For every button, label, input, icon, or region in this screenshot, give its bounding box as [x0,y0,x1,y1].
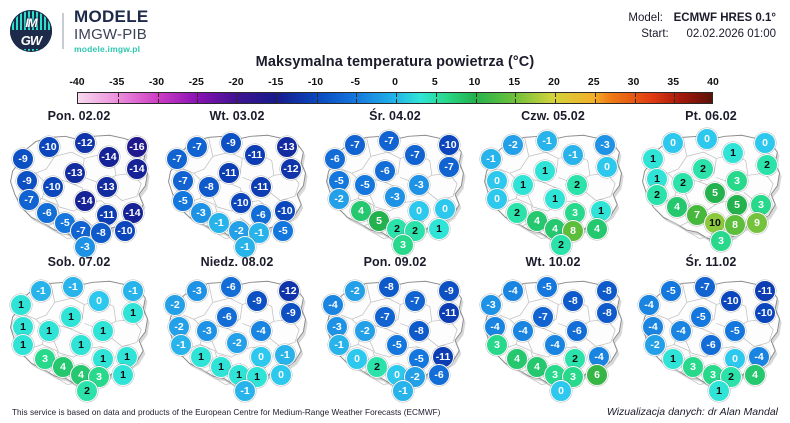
imgw-logo-icon: IM GW [10,10,52,52]
colorbar-tick: 20 [548,76,560,88]
temperature-marker[interactable]: -3 [408,174,430,196]
forecast-panel[interactable]: Pon. 09.02-2-8-9-7-4-7-11-3-2-8-1-5-5-11… [316,254,474,400]
poland-map: -2-8-9-7-4-7-11-3-2-8-1-5-5-11020-2-6-1 [316,272,474,398]
forecast-panel[interactable]: Śr. 11.02-5-7-11-10-4-5-10-4-4-5-2-60-41… [632,254,790,400]
panel-date-label: Sob. 07.02 [0,254,158,272]
temperature-marker[interactable]: 6 [586,364,608,386]
panel-date-label: Czw. 05.02 [474,108,632,126]
colorbar: -40-35-30-25-20-15-10-50510152025303540 [77,76,713,104]
temperature-marker[interactable]: 1 [12,334,34,356]
temperature-marker[interactable]: -5 [272,220,294,242]
colorbar-tickmark [476,93,477,97]
temperature-marker[interactable]: -1 [392,380,414,402]
temperature-marker[interactable]: 1 [512,174,534,196]
temperature-marker[interactable]: -10 [438,134,460,156]
model-metadata: Model: ECMWF HRES 0.1° Start: 02.02.2026… [628,10,776,42]
temperature-marker[interactable]: -9 [246,290,268,312]
temperature-marker[interactable]: 1 [662,348,684,370]
start-row: Start: 02.02.2026 01:00 [628,26,776,42]
temperature-marker[interactable]: 0 [486,188,508,210]
temperature-marker[interactable]: -7 [172,170,194,192]
temperature-marker[interactable]: -8 [562,290,584,312]
temperature-marker[interactable]: -12 [74,132,96,154]
forecast-panel[interactable]: Śr. 04.02-7-7-10-7-6-6-7-5-5-3-2-3004522… [316,108,474,254]
temperature-marker[interactable]: 0 [754,132,776,154]
colorbar-tick: 0 [392,76,398,88]
temperature-marker[interactable]: 4 [666,196,688,218]
temperature-marker[interactable]: -7 [438,156,460,178]
temperature-marker[interactable]: 0 [88,290,110,312]
panel-date-label: Śr. 11.02 [632,254,790,272]
chart-title: Maksymalna temperatura powietrza (°C) [0,54,790,70]
imgw-logo: IM GW MODELE IMGW-PIB modele.imgw.pl [10,8,149,54]
temperature-marker[interactable]: -2 [164,294,186,316]
temperature-marker[interactable]: -13 [96,176,118,198]
temperature-marker[interactable]: -9 [438,280,460,302]
temperature-marker[interactable]: 2 [366,356,388,378]
poland-map: -2-1-3-1-1100120131244842 [474,126,632,252]
panel-date-label: Niedz. 08.02 [158,254,316,272]
temperature-marker[interactable]: 1 [428,218,450,240]
temperature-marker[interactable]: 3 [726,170,748,192]
temperature-marker[interactable]: -2 [344,280,366,302]
colorbar-tick: 25 [588,76,600,88]
colorbar-tickmark [277,93,278,97]
temperature-marker[interactable]: -5 [354,174,376,196]
poland-map: -7-7-10-7-6-6-7-5-5-3-2-300452213 [316,126,474,252]
temperature-marker[interactable]: 3 [710,230,732,252]
temperature-marker[interactable]: 4 [744,364,766,386]
temperature-marker[interactable]: -6 [428,364,450,386]
temperature-marker[interactable]: -10 [42,176,64,198]
colorbar-tickmark [674,93,675,97]
temperature-marker[interactable]: -1 [170,334,192,356]
temperature-marker[interactable]: -7 [694,276,716,298]
temperature-marker[interactable]: 1 [708,380,730,402]
colorbar-tickmark [197,99,198,103]
colorbar-tickmark [635,93,636,97]
temperature-marker[interactable]: 2 [566,174,588,196]
temperature-marker[interactable]: 0 [662,132,684,154]
temperature-marker[interactable]: -1 [30,280,52,302]
temperature-marker[interactable]: 1 [70,334,92,356]
colorbar-tickmark [237,93,238,97]
temperature-marker[interactable]: -1 [208,212,230,234]
temperature-marker[interactable]: 2 [506,202,528,224]
colorbar-gradient [77,92,713,104]
temperature-marker[interactable]: -5 [386,334,408,356]
temperature-marker[interactable]: -2 [226,332,248,354]
forecast-panel[interactable]: Pt. 06.02000112212325534710893 [632,108,790,254]
temperature-marker[interactable]: -4 [670,320,692,342]
colorbar-tickmark [396,99,397,103]
colorbar-tickmark [515,93,516,97]
temperature-marker[interactable]: -12 [280,158,302,180]
model-value: ECMWF HRES 0.1° [674,12,776,24]
temperature-marker[interactable]: 1 [190,346,212,368]
temperature-marker[interactable]: -3 [480,294,502,316]
forecast-panel[interactable]: Sob. 07.02-1-1-101111111111344312 [0,254,158,400]
temperature-marker[interactable]: -9 [220,132,242,154]
temperature-marker[interactable]: -9 [12,148,34,170]
panel-date-label: Wt. 10.02 [474,254,632,272]
temperature-marker[interactable]: 0 [434,198,456,220]
temperature-marker[interactable]: -7 [404,144,426,166]
colorbar-tick: -35 [109,76,124,88]
colorbar-tickmark [396,93,397,97]
temperature-marker[interactable]: 1 [60,306,82,328]
temperature-marker[interactable]: -13 [276,136,298,158]
logo-title-modele: MODELE [74,8,149,25]
temperature-marker[interactable]: -10 [114,220,136,242]
colorbar-tickmark [118,93,119,97]
colorbar-tick: 35 [667,76,679,88]
temperature-marker[interactable]: -8 [408,320,430,342]
poland-map: -4-5-8-8-3-7-8-4-4-63-42-4443360 [474,272,632,398]
temperature-marker[interactable]: -2 [354,320,376,342]
temperature-marker[interactable]: -11 [250,176,272,198]
temperature-marker[interactable]: 5 [726,194,748,216]
logo-divider [62,13,64,49]
colorbar-tickmark [197,93,198,97]
forecast-panel[interactable]: Niedz. 08.02-3-6-12-9-2-6-9-2-3-4-1-20-1… [158,254,316,400]
temperature-marker[interactable]: -6 [216,306,238,328]
colorbar-tick-labels: -40-35-30-25-20-15-10-50510152025303540 [77,76,713,92]
colorbar-tick: -5 [351,76,360,88]
temperature-marker[interactable]: -4 [502,280,524,302]
temperature-marker[interactable]: -5 [660,280,682,302]
temperature-marker[interactable]: 3 [486,334,508,356]
temperature-marker[interactable]: -3 [186,280,208,302]
colorbar-tickmark [317,93,318,97]
temperature-marker[interactable]: -3 [196,320,218,342]
temperature-marker[interactable]: -11 [218,162,240,184]
temperature-marker[interactable]: -6 [700,334,722,356]
temperature-marker[interactable]: 0 [550,380,572,402]
temperature-marker[interactable]: -1 [480,148,502,170]
temperature-marker[interactable]: -10 [754,302,776,324]
temperature-marker[interactable]: -7 [344,134,366,156]
temperature-marker[interactable]: -4 [638,294,660,316]
logo-subtitle-imgw-pib: IMGW-PIB [74,27,149,42]
temperature-marker[interactable]: -4 [544,334,566,356]
temperature-marker[interactable]: -14 [126,158,148,180]
temperature-marker[interactable]: -7 [378,130,400,152]
page-header: IM GW MODELE IMGW-PIB modele.imgw.pl Mod… [0,0,790,52]
temperature-marker[interactable]: 4 [586,218,608,240]
temperature-marker[interactable]: -16 [126,136,148,158]
poland-map: -1-1-101111111111344312 [0,272,158,398]
colorbar-tick: 5 [432,76,438,88]
colorbar-tickmark [555,99,556,103]
colorbar-tickmark [555,93,556,97]
poland-map: -5-7-11-10-4-5-10-4-4-5-2-60-4133241 [632,272,790,398]
temperature-marker[interactable]: 2 [550,234,572,256]
temperature-marker[interactable]: 1 [544,188,566,210]
temperature-marker[interactable]: 1 [92,320,114,342]
colorbar-tick: -25 [189,76,204,88]
panel-date-label: Pt. 06.02 [632,108,790,126]
colorbar-tick: -10 [308,76,323,88]
forecast-panel[interactable]: Czw. 05.02-2-1-3-1-1100120131244842 [474,108,632,254]
colorbar-tickmark [158,93,159,97]
temperature-marker[interactable]: 1 [722,142,744,164]
colorbar-tickmark [356,99,357,103]
panel-date-label: Pon. 02.02 [0,108,158,126]
start-value: 02.02.2026 01:00 [686,28,776,40]
temperature-marker[interactable]: -1 [62,276,84,298]
temperature-marker[interactable]: -3 [594,134,616,156]
temperature-marker[interactable]: -7 [532,306,554,328]
temperature-marker[interactable]: -8 [596,302,618,324]
temperature-marker[interactable]: -6 [374,160,396,182]
temperature-marker[interactable]: 2 [756,154,778,176]
colorbar-tick: -15 [268,76,283,88]
temperature-marker[interactable]: 0 [596,156,618,178]
temperature-marker[interactable]: 1 [10,294,32,316]
temperature-marker[interactable]: -7 [186,136,208,158]
logo-gw-text: GW [10,32,52,49]
temperature-marker[interactable]: 2 [672,172,694,194]
colorbar-tickmark [356,93,357,97]
temperature-marker[interactable]: 4 [506,348,528,370]
temperature-marker[interactable]: -4 [250,320,272,342]
temperature-marker[interactable]: 1 [534,160,556,182]
colorbar-tick: 10 [469,76,481,88]
temperature-marker[interactable]: 9 [746,212,768,234]
temperature-marker[interactable]: -14 [98,146,120,168]
temperature-marker[interactable]: -6 [324,148,346,170]
footer-author: Wizualizacja danych: dr Alan Mandal [607,406,778,418]
temperature-marker[interactable]: -4 [512,320,534,342]
colorbar-tickmark [515,99,516,103]
temperature-marker[interactable]: 3 [682,356,704,378]
temperature-marker[interactable]: -7 [374,306,396,328]
temperature-marker[interactable]: -13 [64,162,86,184]
temperature-marker[interactable]: 1 [112,364,134,386]
start-label: Start: [641,26,683,42]
colorbar-tick: 40 [707,76,719,88]
temperature-marker[interactable]: 2 [692,158,714,180]
temperature-marker[interactable]: -1 [234,380,256,402]
forecast-panel-grid: Pon. 02.02-10-12-16-14-9-13-14-9-10-13-7… [0,108,790,400]
poland-map: -3-6-12-9-2-6-9-2-3-4-1-20-111110-1 [158,272,316,398]
colorbar-tickmark [158,99,159,103]
colorbar-tickmark [436,93,437,97]
logo-im-text: IM [14,17,48,30]
logo-url: modele.imgw.pl [74,45,149,54]
temperature-marker[interactable]: -2 [502,134,524,156]
temperature-marker[interactable]: -8 [198,176,220,198]
temperature-marker[interactable]: -10 [274,200,296,222]
colorbar-tick: -20 [228,76,243,88]
temperature-marker[interactable]: -3 [384,186,406,208]
colorbar-tick: -40 [69,76,84,88]
temperature-marker[interactable]: 5 [704,182,726,204]
model-label: Model: [628,10,670,26]
temperature-marker[interactable]: 0 [250,346,272,368]
colorbar-tickmark [277,99,278,103]
temperature-marker[interactable]: 2 [646,184,668,206]
temperature-marker[interactable]: -2 [328,188,350,210]
temperature-marker[interactable]: -1 [562,144,584,166]
temperature-marker[interactable]: 1 [122,302,144,324]
temperature-marker[interactable]: 0 [696,128,718,150]
temperature-marker[interactable]: -9 [280,302,302,324]
temperature-marker[interactable]: -5 [724,320,746,342]
temperature-marker[interactable]: 3 [392,234,414,256]
temperature-marker[interactable]: -12 [278,280,300,302]
temperature-marker[interactable]: 0 [408,200,430,222]
temperature-marker[interactable]: -11 [754,280,776,302]
colorbar-tickmark [635,99,636,103]
temperature-marker[interactable]: 0 [270,364,292,386]
temperature-marker[interactable]: -10 [230,192,252,214]
forecast-panel[interactable]: Wt. 10.02-4-5-8-8-3-7-8-4-4-63-42-444336… [474,254,632,400]
colorbar-tickmark [674,99,675,103]
poland-map: 000112212325534710893 [632,126,790,252]
temperature-marker[interactable]: -6 [220,276,242,298]
colorbar-tickmark [476,99,477,103]
forecast-panel[interactable]: Wt. 03.02-7-9-13-11-7-11-12-7-8-11-5-10-… [158,108,316,254]
colorbar-tick: 15 [508,76,520,88]
temperature-marker[interactable]: -11 [244,144,266,166]
footer-attribution-ecmwf: This service is based on data and produc… [12,408,440,417]
poland-map: -7-9-13-11-7-11-12-7-8-11-5-10-3-6-10-1-… [158,126,316,252]
colorbar-tickmark [118,99,119,103]
temperature-marker[interactable]: 1 [642,148,664,170]
temperature-marker[interactable]: 2 [76,380,98,402]
temperature-marker[interactable]: -5 [690,306,712,328]
temperature-marker[interactable]: 0 [346,348,368,370]
temperature-marker[interactable]: -5 [536,276,558,298]
model-row: Model: ECMWF HRES 0.1° [628,10,776,26]
temperature-marker[interactable]: 1 [38,320,60,342]
temperature-marker[interactable]: -7 [404,290,426,312]
logo-text-block: MODELE IMGW-PIB modele.imgw.pl [74,8,149,54]
temperature-marker[interactable]: -10 [38,136,60,158]
panel-date-label: Wt. 03.02 [158,108,316,126]
temperature-marker[interactable]: -1 [536,130,558,152]
temperature-marker[interactable]: -6 [566,320,588,342]
temperature-marker[interactable]: -8 [378,276,400,298]
panel-date-label: Pon. 09.02 [316,254,474,272]
temperature-marker[interactable]: -1 [122,280,144,302]
colorbar-tick: 30 [628,76,640,88]
temperature-marker[interactable]: -10 [720,290,742,312]
temperature-marker[interactable]: -14 [74,190,96,212]
colorbar-tick: -30 [149,76,164,88]
colorbar-tickmark [595,99,596,103]
temperature-marker[interactable]: -1 [274,344,296,366]
colorbar-tickmark [595,93,596,97]
poland-map: -10-12-16-14-9-13-14-9-10-13-7-14-11-14-… [0,126,158,252]
panel-date-label: Śr. 04.02 [316,108,474,126]
colorbar-tickmark [237,99,238,103]
colorbar-tickmark [317,99,318,103]
temperature-marker[interactable]: -4 [322,294,344,316]
temperature-marker[interactable]: -11 [438,302,460,324]
forecast-panel[interactable]: Pon. 02.02-10-12-16-14-9-13-14-9-10-13-7… [0,108,158,254]
temperature-marker[interactable]: -8 [596,280,618,302]
temperature-marker[interactable]: -7 [166,148,188,170]
colorbar-tickmark [436,99,437,103]
